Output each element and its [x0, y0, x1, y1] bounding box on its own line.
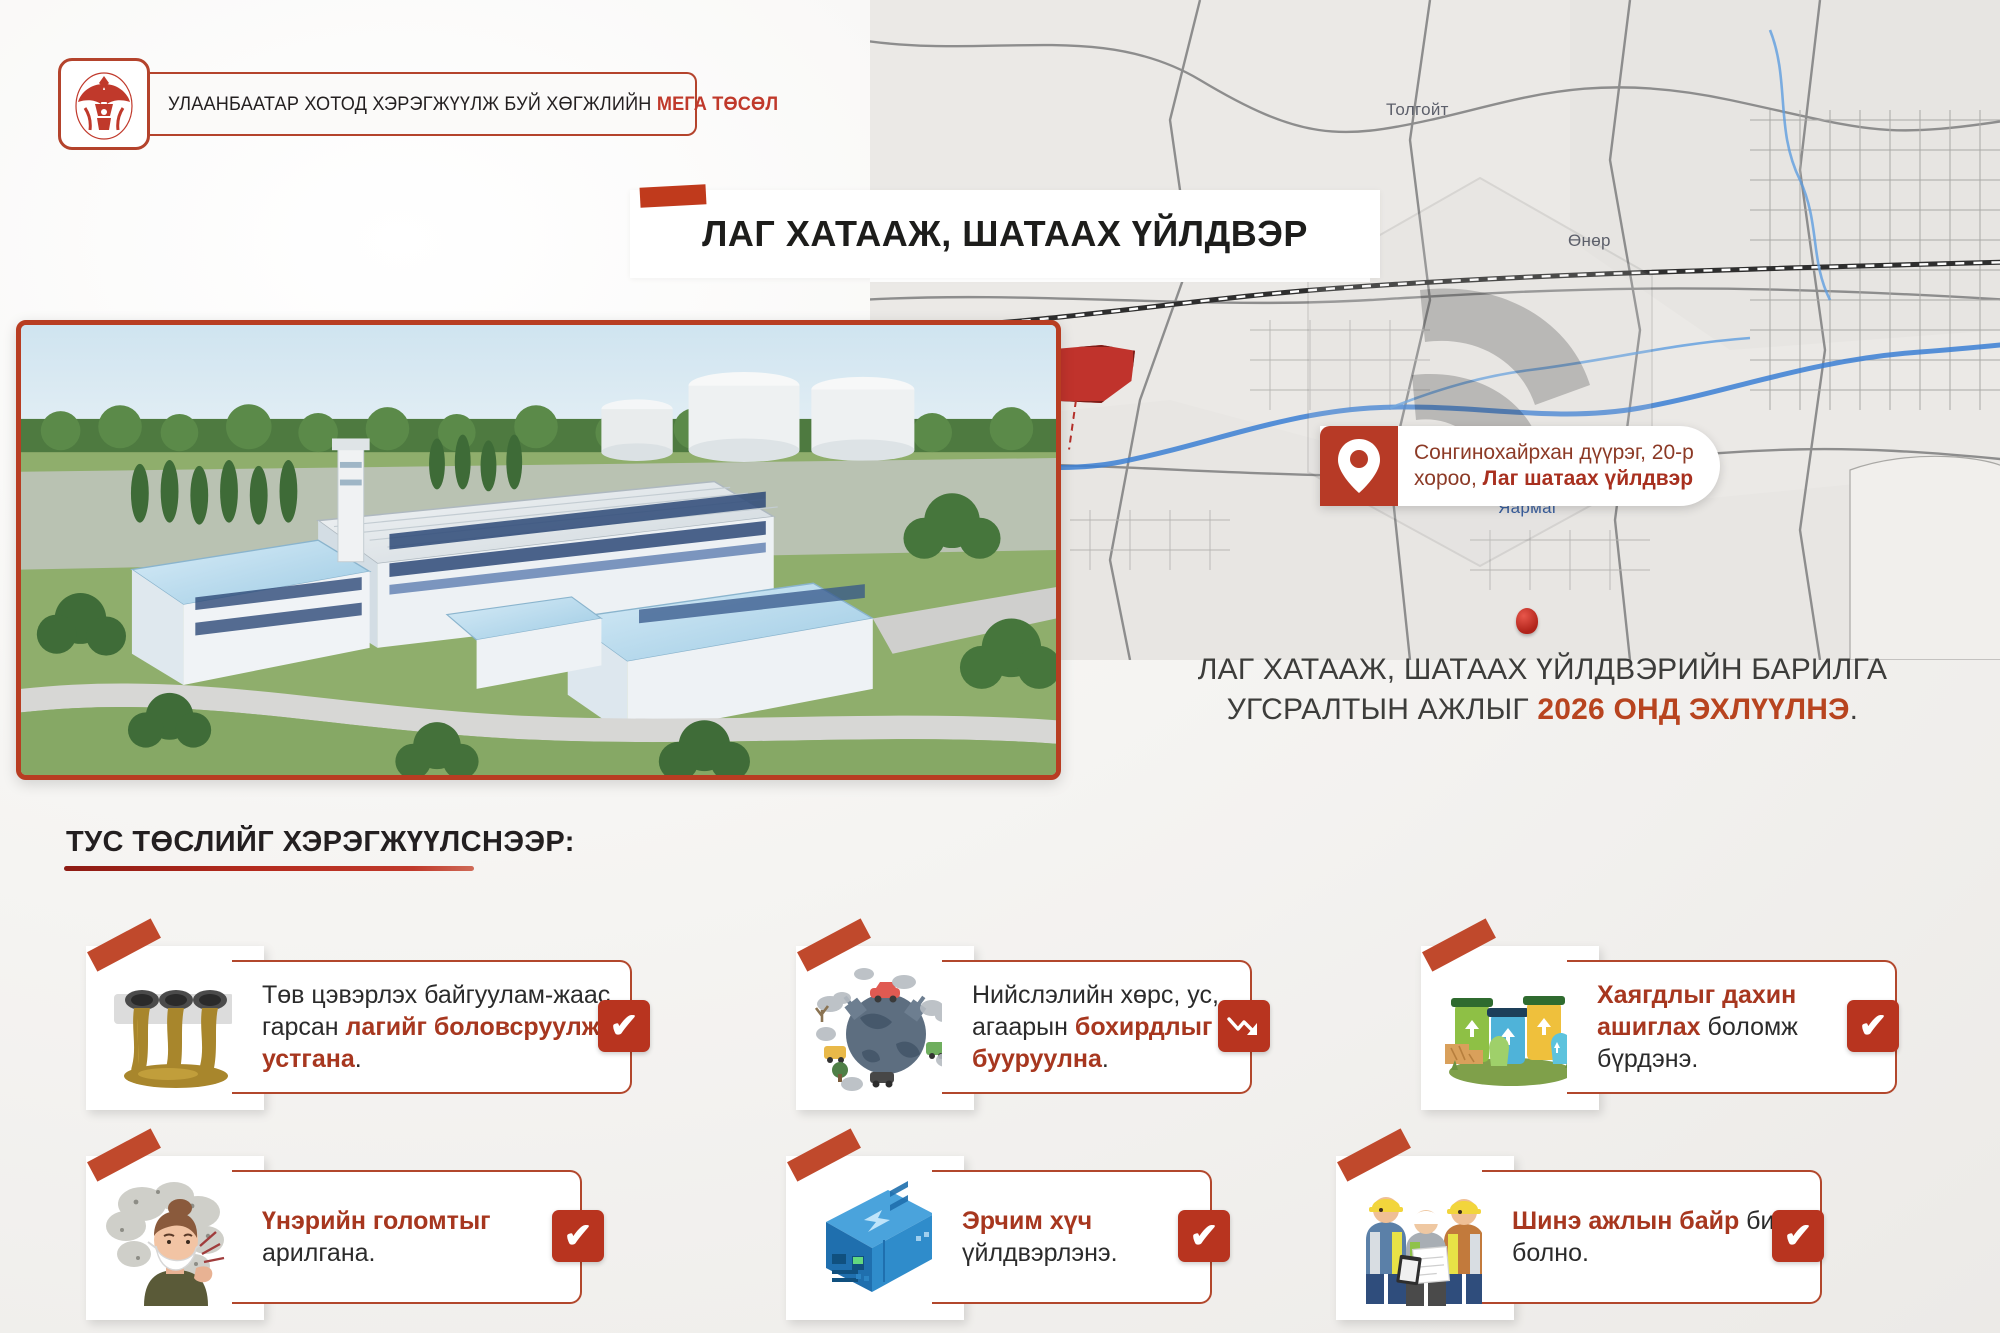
card-text: Төв цэвэрлэх байгуулам-жаас гарсан лагий…	[262, 979, 612, 1075]
infographic-page: ZOGII.MN Толгойт Өнөр Яармаг Сонгинохайр…	[0, 0, 2000, 1333]
check-icon: ✔	[1772, 1210, 1824, 1262]
map-caption-line-2: УГСРАЛТЫН АЖЛЫГ 2026 ОНД ЭХЛҮҮЛНЭ.	[1120, 690, 1965, 730]
card-text-bubble: Шинэ ажлын байр бий болно.	[1482, 1170, 1822, 1304]
benefit-card-pollution-reduction[interactable]: Нийслэлийн хөрс, ус, агаарын бохирдлыг б…	[770, 930, 1390, 1110]
card-text-bubble: Төв цэвэрлэх байгуулам-жаас гарсан лагий…	[232, 960, 632, 1094]
map-label-uner: Өнөр	[1568, 231, 1611, 251]
check-icon: ✔	[552, 1210, 604, 1262]
benefits-heading: ТУС ТӨСЛИЙГ ХЭРЭГЖҮҮЛСНЭЭР:	[66, 826, 575, 859]
sludge-pipes-icon	[98, 960, 254, 1096]
header-banner: УЛААНБААТАР ХОТОД ХЭРЭГЖҮҮЛЖ БУЙ ХӨГЖЛИЙ…	[150, 72, 697, 136]
map-label-tolgoit: Толгойт	[1386, 100, 1449, 120]
factory-render-image	[16, 320, 1061, 780]
location-callout[interactable]: Сонгинохайрхан дүүрэг, 20-р хороо, Лаг ш…	[1320, 426, 1720, 506]
recycling-bins-icon	[1433, 960, 1589, 1096]
page-title: ЛАГ ХАТААЖ, ШАТААХ ҮЙЛДВЭР	[702, 213, 1308, 255]
map-marker-dot	[1516, 608, 1538, 634]
main-title-banner: ЛАГ ХАТААЖ, ШАТААХ ҮЙЛДВЭР	[630, 190, 1380, 278]
card-text-bubble: Нийслэлийн хөрс, ус, агаарын бохирдлыг б…	[942, 960, 1252, 1094]
construction-workers-icon	[1348, 1170, 1504, 1306]
factory-render-vector	[21, 325, 1056, 775]
map-pin-icon	[1320, 426, 1398, 506]
map-caption: ЛАГ ХАТААЖ, ШАТААХ ҮЙЛДВЭРИЙН БАРИЛГА УГ…	[1120, 650, 1965, 729]
location-line-1: Сонгинохайрхан дүүрэг, 20-р	[1414, 440, 1694, 466]
card-text-bubble: Үнэрийн голомтыг арилгана.	[232, 1170, 582, 1304]
generator-icon	[798, 1170, 954, 1306]
benefit-card-energy-production[interactable]: Эрчим хүч үйлдвэрлэнэ. ✔	[760, 1140, 1380, 1320]
check-icon: ✔	[1847, 1000, 1899, 1052]
card-text: Шинэ ажлын байр бий болно.	[1512, 1205, 1802, 1269]
card-text: Нийслэлийн хөрс, ус, агаарын бохирдлыг б…	[972, 979, 1232, 1075]
check-icon: ✔	[1178, 1210, 1230, 1262]
polluted-earth-icon	[808, 960, 964, 1096]
state-emblem-logo	[58, 58, 150, 150]
benefit-card-waste-recycling[interactable]: Хаягдлыг дахин ашиглах боломж бүрдэнэ. ✔	[1395, 930, 2000, 1110]
woman-mask-smell-icon	[98, 1170, 254, 1306]
benefit-card-sludge-processing[interactable]: Төв цэвэрлэх байгуулам-жаас гарсан лагий…	[60, 930, 680, 1110]
title-accent-tab	[640, 184, 707, 207]
header-banner-text: УЛААНБААТАР ХОТОД ХЭРЭГЖҮҮЛЖ БУЙ ХӨГЖЛИЙ…	[168, 93, 778, 116]
trend-down-icon	[1218, 1000, 1270, 1052]
card-text: Хаягдлыг дахин ашиглах боломж бүрдэнэ.	[1597, 979, 1877, 1075]
soyombo-emblem-icon	[73, 68, 135, 140]
check-icon: ✔	[598, 1000, 650, 1052]
location-line-2: хороо, Лаг шатаах үйлдвэр	[1414, 466, 1694, 492]
map-caption-line-1: ЛАГ ХАТААЖ, ШАТААХ ҮЙЛДВЭРИЙН БАРИЛГА	[1120, 650, 1965, 690]
benefit-card-odour-removal[interactable]: Үнэрийн голомтыг арилгана. ✔	[60, 1140, 680, 1320]
card-text: Эрчим хүч үйлдвэрлэнэ.	[962, 1205, 1192, 1269]
benefits-heading-underline	[64, 866, 474, 871]
trend-down-arrow	[1227, 1013, 1261, 1039]
benefit-card-new-jobs[interactable]: Шинэ ажлын байр бий болно. ✔	[1310, 1140, 1930, 1320]
card-text: Үнэрийн голомтыг арилгана.	[262, 1205, 562, 1269]
card-text-bubble: Эрчим хүч үйлдвэрлэнэ.	[932, 1170, 1212, 1304]
